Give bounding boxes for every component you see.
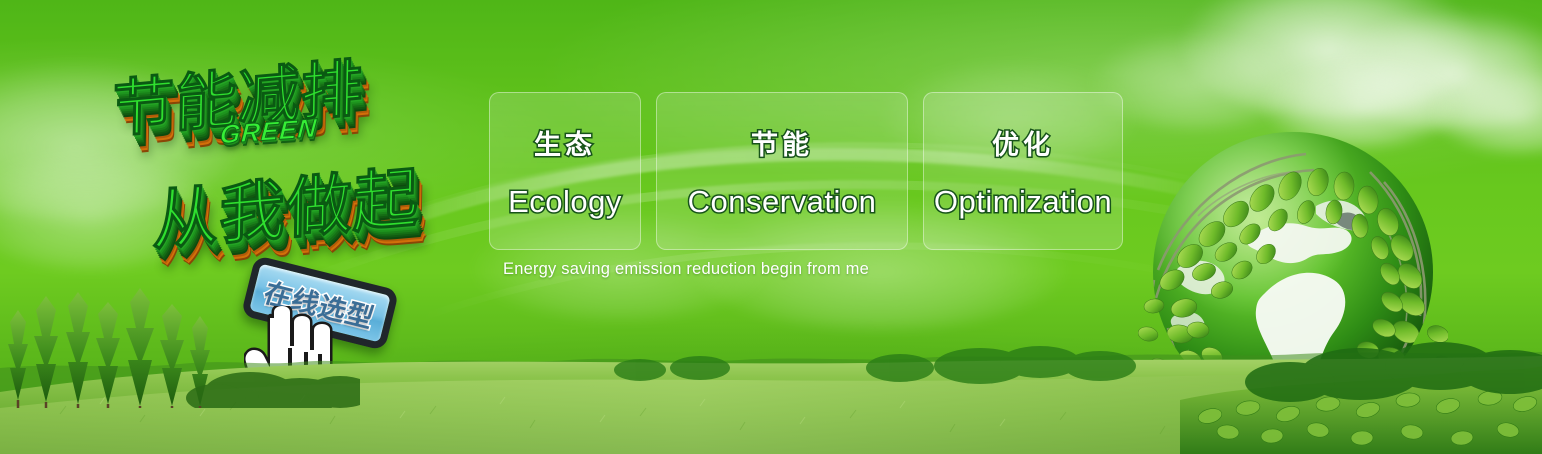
cloud-icon — [1330, 10, 1542, 130]
banner-tagline: Energy saving emission reduction begin f… — [503, 260, 869, 279]
logo-line-1: 节能减排 — [112, 37, 365, 149]
globe-ground-shadow — [1140, 398, 1440, 434]
cta-button-label: 在线选型 — [260, 271, 381, 335]
feature-card-title-cn: 生态 — [534, 123, 596, 162]
hero-3d-logo: 节能减排 GREEN 从我做起 — [100, 38, 490, 278]
cloud-icon — [0, 150, 220, 270]
feature-card-title-en: Conservation — [688, 184, 877, 220]
online-selection-cta[interactable]: 在线选型 — [241, 255, 400, 351]
logo-green-word: GREEN — [219, 112, 318, 150]
eco-promo-banner: 节能减排 GREEN 从我做起 生态 Ecology 节能 Conservati… — [0, 0, 1542, 454]
feature-card-title-cn: 优化 — [992, 123, 1054, 162]
feature-card-title-en: Optimization — [934, 184, 1112, 220]
leafy-green-globe-icon — [1138, 120, 1448, 430]
grass-field-icon — [0, 304, 1542, 454]
feature-card-optimization[interactable]: 优化 Optimization — [923, 92, 1123, 250]
cloud-icon — [1260, 58, 1460, 148]
cta-button-surface[interactable]: 在线选型 — [241, 255, 400, 351]
logo-line-2: 从我做起 — [152, 144, 421, 264]
feature-card-conservation[interactable]: 节能 Conservation — [656, 92, 908, 250]
feature-card-title-en: Ecology — [508, 184, 622, 220]
leaf-ground-cover-icon — [1180, 342, 1542, 454]
feature-card-ecology[interactable]: 生态 Ecology — [489, 92, 641, 250]
feature-card-title-cn: 节能 — [751, 123, 813, 162]
cloud-icon — [1180, 0, 1480, 118]
cloud-icon — [1430, 68, 1542, 154]
cloud-icon — [0, 60, 240, 220]
feature-card-group: 生态 Ecology 节能 Conservation 优化 Optimizati… — [489, 92, 1123, 250]
